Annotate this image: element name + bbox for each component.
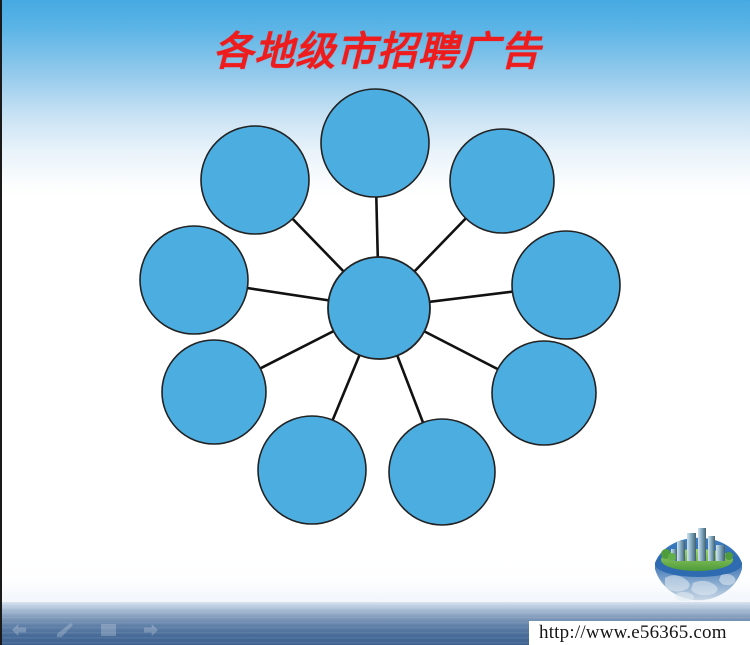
watermark-url: http://www.e56365.com	[539, 622, 727, 644]
globe-city-logo	[647, 523, 750, 611]
pencil-icon	[52, 620, 78, 640]
page-title: 各地级市招聘广告	[2, 28, 750, 76]
forward-arrow-icon	[140, 620, 166, 640]
ghost-toolbar	[8, 618, 298, 642]
back-arrow-icon	[8, 620, 34, 640]
watermark-box: http://www.e56365.com	[529, 621, 750, 645]
slide-canvas: 各地级市招聘广告	[0, 0, 750, 645]
square-icon	[96, 620, 122, 640]
background-middle	[2, 195, 750, 585]
